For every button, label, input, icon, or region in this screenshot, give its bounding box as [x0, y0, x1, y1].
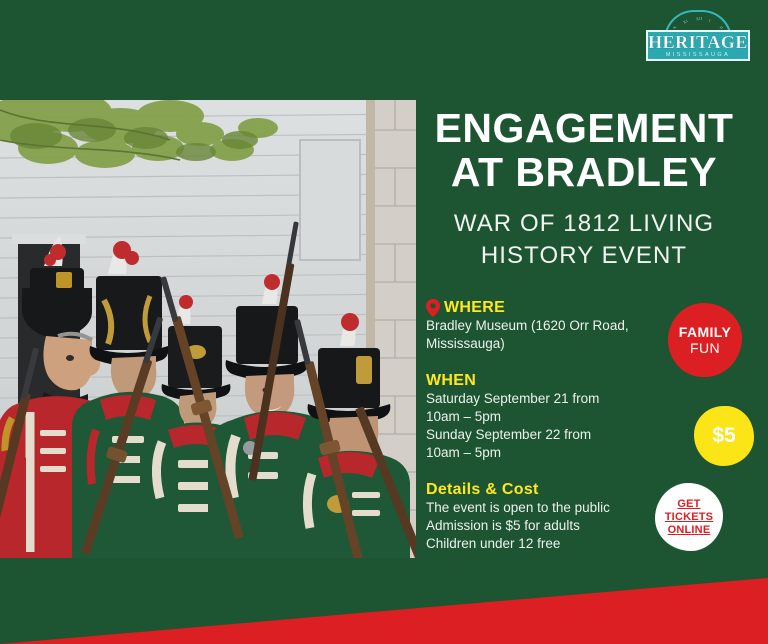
poster-canvas: X XI XII I II HERITAGE MISSISSAUGA ENGAG… [0, 0, 768, 644]
when-block: WHEN Saturday September 21 from 10am – 5… [426, 371, 676, 462]
details-heading: Details & Cost [426, 480, 676, 499]
bottom-red-band [0, 560, 768, 644]
page-title: ENGAGEMENT AT BRADLEY [418, 106, 750, 194]
get-tickets-online-badge[interactable]: GET TICKETS ONLINE [655, 483, 723, 551]
when-heading: WHEN [426, 371, 676, 390]
where-line-2: Mississauga) [426, 335, 676, 353]
tickets-line-3: ONLINE [668, 524, 711, 537]
red-diagonal-shape [0, 560, 768, 644]
when-line-4: 10am – 5pm [426, 444, 676, 462]
headline-line-1: ENGAGEMENT [418, 106, 750, 150]
logo-wordmark: HERITAGE [648, 33, 748, 51]
logo-plate: HERITAGE MISSISSAUGA [646, 30, 750, 61]
event-info: WHERE Bradley Museum (1620 Orr Road, Mis… [426, 298, 676, 567]
logo-numeral: XII [696, 16, 703, 22]
details-block: Details & Cost The event is open to the … [426, 480, 676, 553]
logo-numeral: XI [682, 18, 689, 25]
logo-numeral: I [708, 18, 711, 23]
details-line-1: The event is open to the public [426, 499, 676, 517]
subhead-line-2: HISTORY EVENT [418, 240, 750, 272]
price-badge: $5 [694, 406, 754, 466]
details-line-3: Children under 12 free [426, 535, 676, 553]
headline-line-2: AT BRADLEY [418, 150, 750, 194]
price-value: $5 [712, 425, 735, 447]
event-photo [0, 100, 416, 558]
where-block: WHERE Bradley Museum (1620 Orr Road, Mis… [426, 298, 676, 353]
logo-subtitle: MISSISSAUGA [666, 52, 730, 59]
family-fun-line-1: FAMILY [679, 324, 731, 340]
tickets-line-2: TICKETS [665, 511, 713, 524]
where-line-1: Bradley Museum (1620 Orr Road, [426, 317, 676, 335]
details-line-2: Admission is $5 for adults [426, 517, 676, 535]
heritage-mississauga-logo[interactable]: X XI XII I II HERITAGE MISSISSAUGA [646, 10, 750, 68]
where-heading: WHERE [426, 298, 676, 317]
map-pin-icon [426, 299, 440, 317]
page-subtitle: WAR OF 1812 LIVING HISTORY EVENT [418, 208, 750, 272]
family-fun-badge: FAMILY FUN [668, 303, 742, 377]
when-line-3: Sunday September 22 from [426, 426, 676, 444]
when-line-1: Saturday September 21 from [426, 390, 676, 408]
subhead-line-1: WAR OF 1812 LIVING [418, 208, 750, 240]
tickets-line-1: GET [677, 498, 700, 511]
when-line-2: 10am – 5pm [426, 408, 676, 426]
family-fun-line-2: FUN [690, 340, 720, 357]
